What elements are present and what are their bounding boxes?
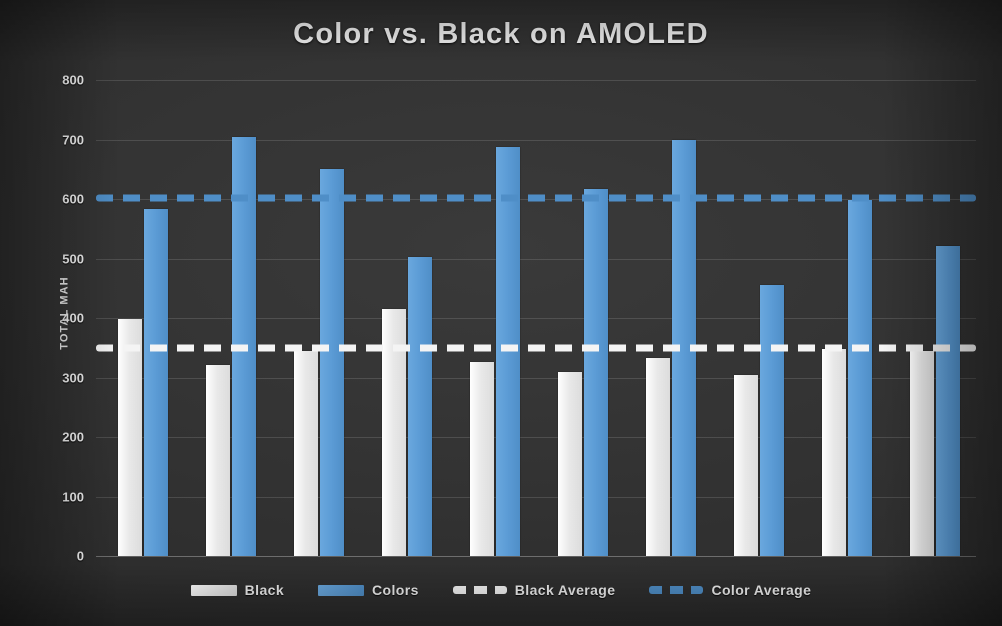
bar-group-4 [382, 80, 432, 556]
y-tick-label-400: 400 [22, 311, 84, 326]
bar-swatch-gray-icon [191, 585, 237, 596]
bar-black-2[interactable] [206, 365, 230, 556]
y-tick-label-600: 600 [22, 192, 84, 207]
bar-black-3[interactable] [294, 351, 318, 556]
legend-label: Black Average [515, 582, 616, 598]
bar-black-8[interactable] [734, 375, 758, 556]
chart-legend: BlackColorsBlack AverageColor Average [0, 582, 1002, 598]
bar-group-2 [206, 80, 256, 556]
bar-colors-6[interactable] [584, 189, 608, 556]
bar-colors-10[interactable] [936, 246, 960, 556]
y-tick-label-0: 0 [22, 549, 84, 564]
y-tick-label-300: 300 [22, 370, 84, 385]
bar-black-10[interactable] [910, 351, 934, 556]
chart-root: Color vs. Black on AMOLED TOTAL MAH 0100… [0, 0, 1002, 626]
bar-colors-1[interactable] [144, 209, 168, 556]
bar-group-1 [118, 80, 168, 556]
plot-area: 0100200300400500600700800 [96, 80, 976, 556]
bar-black-7[interactable] [646, 358, 670, 556]
legend-label: Black [245, 582, 284, 598]
bar-group-8 [734, 80, 784, 556]
bar-black-1[interactable] [118, 319, 142, 556]
bar-group-7 [646, 80, 696, 556]
bar-colors-4[interactable] [408, 257, 432, 556]
bar-group-5 [470, 80, 520, 556]
y-tick-label-800: 800 [22, 73, 84, 88]
legend-label: Color Average [711, 582, 811, 598]
bar-black-5[interactable] [470, 362, 494, 556]
chart-title: Color vs. Black on AMOLED [0, 18, 1002, 51]
dashed-swatch-blue-icon [649, 586, 703, 594]
bar-group-3 [294, 80, 344, 556]
y-tick-label-500: 500 [22, 251, 84, 266]
reference-line-color-average [96, 195, 976, 202]
bar-swatch-blue-icon [318, 585, 364, 596]
y-tick-label-100: 100 [22, 489, 84, 504]
legend-label: Colors [372, 582, 419, 598]
bar-group-10 [910, 80, 960, 556]
gridline-0 [96, 556, 976, 557]
reference-line-black-average [96, 344, 976, 351]
bar-colors-8[interactable] [760, 285, 784, 556]
bar-black-6[interactable] [558, 372, 582, 556]
bar-colors-5[interactable] [496, 147, 520, 556]
y-tick-label-700: 700 [22, 132, 84, 147]
legend-item-colors[interactable]: Colors [318, 582, 419, 598]
legend-item-color-average[interactable]: Color Average [649, 582, 811, 598]
bar-black-9[interactable] [822, 349, 846, 556]
bar-colors-3[interactable] [320, 169, 344, 556]
legend-item-black[interactable]: Black [191, 582, 284, 598]
bar-group-6 [558, 80, 608, 556]
bar-colors-9[interactable] [848, 200, 872, 556]
legend-item-black-average[interactable]: Black Average [453, 582, 616, 598]
y-tick-label-200: 200 [22, 430, 84, 445]
bar-group-9 [822, 80, 872, 556]
dashed-swatch-white-icon [453, 586, 507, 594]
